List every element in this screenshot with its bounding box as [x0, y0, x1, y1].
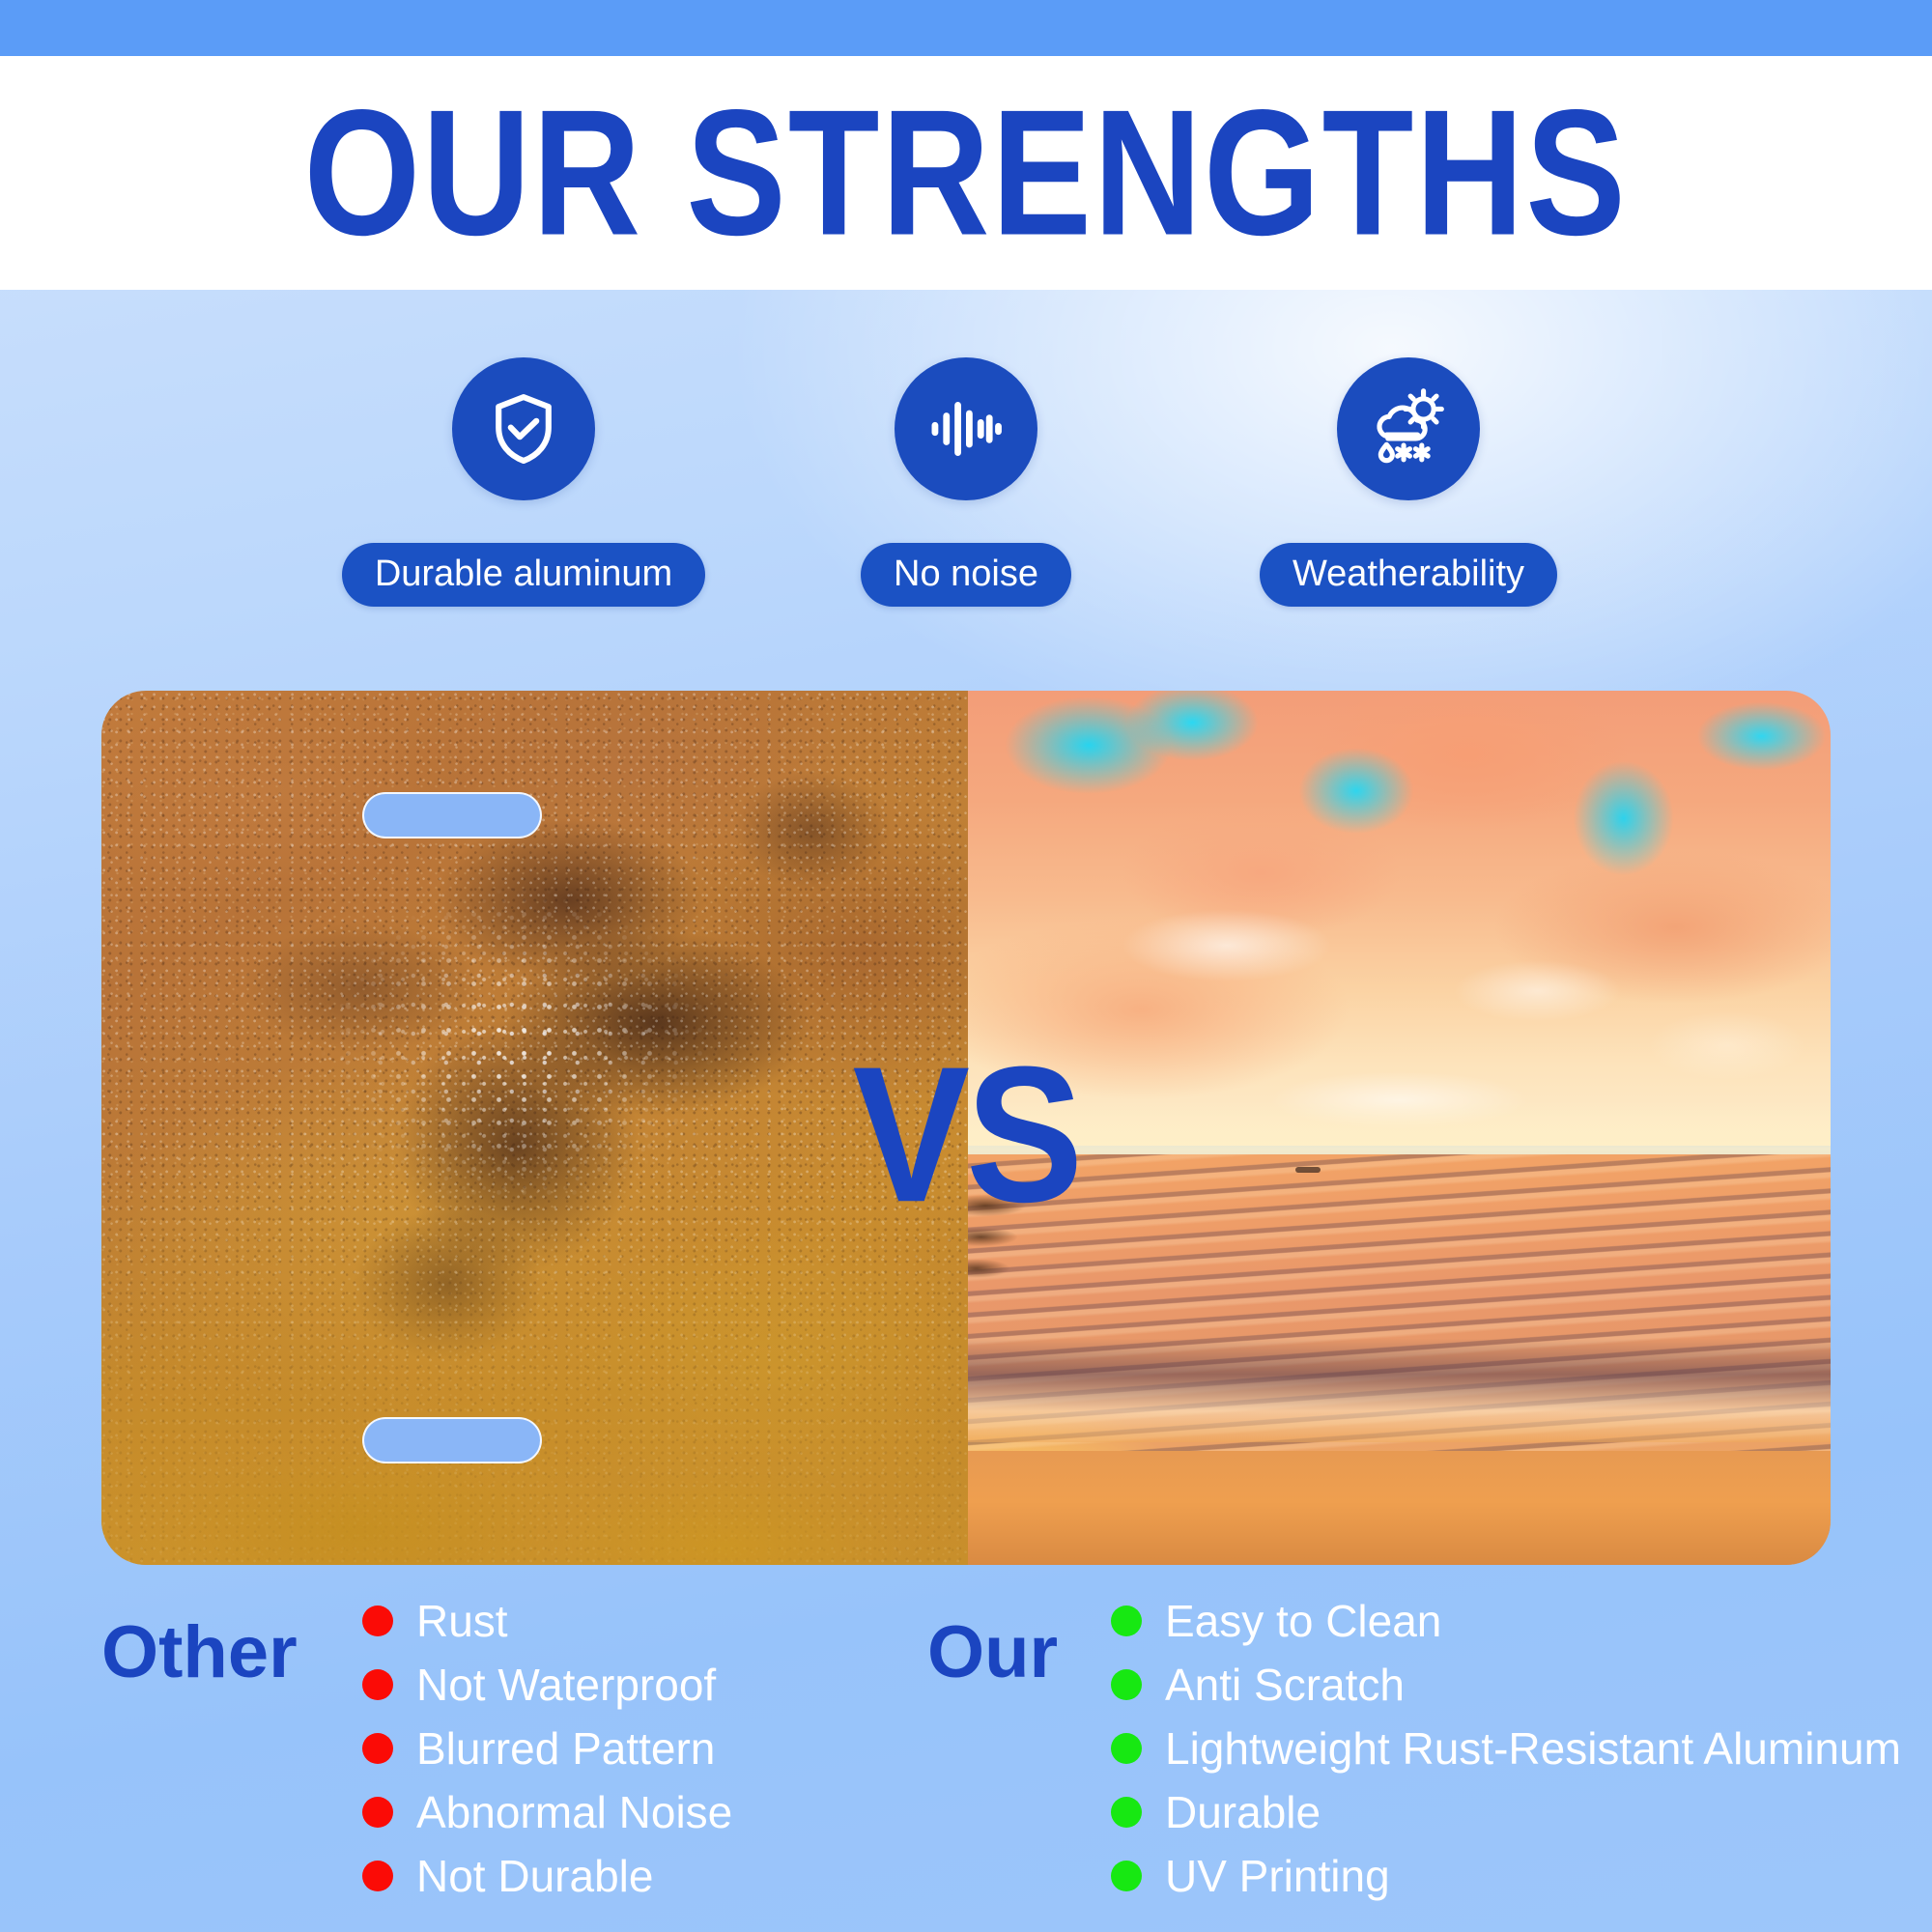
list-item-label: Anti Scratch: [1165, 1662, 1405, 1707]
page-title: OUR STRENGTHS: [304, 83, 1628, 262]
column-heading-our: Our: [927, 1616, 1111, 1690]
mounting-slot-bottom-left: [362, 1417, 542, 1463]
feature-label-pill: No noise: [861, 543, 1071, 607]
feature-label-pill: Durable aluminum: [342, 543, 705, 607]
list-item: Easy to Clean: [1111, 1599, 1901, 1643]
list-item-label: Abnormal Noise: [416, 1790, 732, 1834]
our-feature-list: Easy to Clean Anti Scratch Lightweight R…: [1111, 1599, 1901, 1898]
list-item: Durable: [1111, 1790, 1901, 1834]
list-item: Blurred Pattern: [362, 1726, 732, 1771]
list-item: Rust: [362, 1599, 732, 1643]
comparison-column-our: Our Easy to Clean Anti Scratch Lightweig…: [908, 1599, 1932, 1932]
list-item: Abnormal Noise: [362, 1790, 732, 1834]
weather-cloud-sun-rain-snow-icon: [1364, 384, 1453, 473]
bullet-dot-red-icon: [362, 1605, 393, 1636]
beach-sand: [968, 1451, 1831, 1565]
other-feature-list: Rust Not Waterproof Blurred Pattern Abno…: [362, 1599, 732, 1898]
bullet-dot-red-icon: [362, 1669, 393, 1700]
list-item-label: Lightweight Rust-Resistant Aluminum: [1165, 1726, 1901, 1771]
list-item: Not Durable: [362, 1854, 732, 1898]
bullet-dot-green-icon: [1111, 1733, 1142, 1764]
list-item: Not Waterproof: [362, 1662, 732, 1707]
feature-icon-circle: [452, 357, 595, 500]
list-item-label: Rust: [416, 1599, 508, 1643]
distant-boat: [1295, 1167, 1321, 1173]
comparison-license-plate: VS: [101, 691, 1831, 1565]
feature-no-noise[interactable]: No noise: [753, 357, 1179, 607]
mounting-slot-top-left: [362, 792, 542, 838]
bullet-dot-green-icon: [1111, 1861, 1142, 1891]
feature-durable-aluminum[interactable]: Durable aluminum: [311, 357, 736, 607]
list-item-label: Durable: [1165, 1790, 1321, 1834]
list-item: Lightweight Rust-Resistant Aluminum: [1111, 1726, 1901, 1771]
list-item: UV Printing: [1111, 1854, 1901, 1898]
bullet-dot-green-icon: [1111, 1605, 1142, 1636]
palm-frond: [968, 1180, 1078, 1306]
infographic-page: OUR STRENGTHS Durable aluminum: [0, 0, 1932, 1932]
plate-half-rusty: [101, 691, 968, 1565]
comparison-lists: Other Rust Not Waterproof Blurred Patter…: [0, 1599, 1932, 1932]
bullet-dot-red-icon: [362, 1861, 393, 1891]
plate-half-printed: [968, 691, 1831, 1565]
feature-label-pill: Weatherability: [1260, 543, 1557, 607]
column-heading-other: Other: [101, 1616, 362, 1690]
feature-icon-row: Durable aluminum No noise: [0, 357, 1932, 647]
comparison-column-other: Other Rust Not Waterproof Blurred Patter…: [0, 1599, 908, 1932]
bullet-dot-green-icon: [1111, 1797, 1142, 1828]
list-item-label: Easy to Clean: [1165, 1599, 1441, 1643]
list-item: Anti Scratch: [1111, 1662, 1901, 1707]
feature-icon-circle: [895, 357, 1037, 500]
list-item-label: UV Printing: [1165, 1854, 1390, 1898]
top-accent-strip: [0, 0, 1932, 56]
breaking-surf: [968, 1338, 1831, 1443]
shield-check-icon: [482, 387, 565, 470]
rust-texture-moss: [101, 1146, 968, 1565]
header-band: OUR STRENGTHS: [0, 56, 1932, 290]
feature-weatherability[interactable]: Weatherability: [1196, 357, 1621, 607]
list-item-label: Not Waterproof: [416, 1662, 716, 1707]
bullet-dot-red-icon: [362, 1733, 393, 1764]
bullet-dot-green-icon: [1111, 1669, 1142, 1700]
feature-icon-circle: [1337, 357, 1480, 500]
list-item-label: Not Durable: [416, 1854, 653, 1898]
sunset-clouds: [968, 691, 1831, 1146]
bullet-dot-red-icon: [362, 1797, 393, 1828]
list-item-label: Blurred Pattern: [416, 1726, 715, 1771]
sound-wave-icon: [924, 387, 1008, 470]
